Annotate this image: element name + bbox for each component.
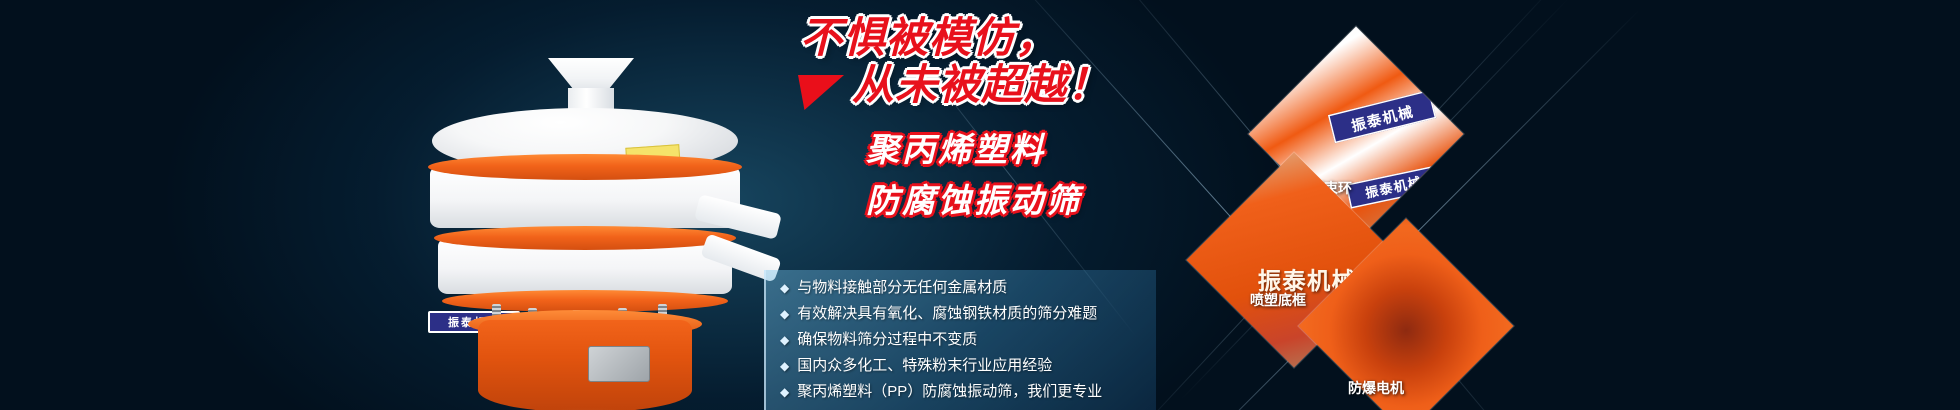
list-item-label: 国内众多化工、特殊粉末行业应用经验 — [797, 358, 1052, 373]
subtitle: 聚丙烯塑料 防腐蚀振动筛 — [866, 124, 1082, 226]
list-item: ◆ 国内众多化工、特殊粉末行业应用经验 — [780, 358, 1156, 373]
clamp-hoop-middle — [434, 226, 736, 250]
list-item-label: 有效解决具有氧化、腐蚀钢铁材质的筛分难题 — [797, 306, 1097, 321]
headline: 不惧被模仿， 从未被超越！ — [800, 14, 1160, 108]
clamp-hoop-lower — [442, 290, 728, 312]
bullet-diamond-icon: ◆ — [780, 308, 789, 320]
tile-brand-nameplate: 振泰机械 — [1328, 90, 1436, 143]
subtitle-line-1: 聚丙烯塑料 — [866, 124, 1082, 175]
bullet-diamond-icon: ◆ — [780, 386, 789, 398]
detail-tile-caption: 防爆电机 — [1348, 378, 1404, 398]
list-item-label: 聚丙烯塑料（PP）防腐蚀振动筛，我们更专业 — [797, 384, 1102, 399]
promo-banner: 振泰机械 振泰机械 不惧被模仿， 从未被超越！ 聚丙烯塑料 防腐蚀振动筛 ◆ 与… — [0, 0, 1960, 410]
feed-funnel — [548, 58, 634, 92]
motor-nameplate — [588, 346, 650, 382]
tile-brand-nameplate: 振泰机械 — [1346, 165, 1442, 208]
list-item: ◆ 与物料接触部分无任何金属材质 — [780, 280, 1156, 295]
list-item-label: 与物料接触部分无任何金属材质 — [797, 280, 1007, 295]
subtitle-line-2: 防腐蚀振动筛 — [866, 175, 1082, 226]
machine-base — [478, 320, 692, 410]
clamp-hoop-upper — [428, 154, 742, 180]
list-item-label: 确保物料筛分过程中不变质 — [797, 332, 977, 347]
bullet-diamond-icon: ◆ — [780, 360, 789, 372]
list-item: ◆ 聚丙烯塑料（PP）防腐蚀振动筛，我们更专业 — [780, 384, 1156, 399]
bullet-diamond-icon: ◆ — [780, 282, 789, 294]
list-item: ◆ 确保物料筛分过程中不变质 — [780, 332, 1156, 347]
headline-line-2: 从未被超越！ — [852, 61, 1160, 108]
bullet-diamond-icon: ◆ — [780, 334, 789, 346]
product-photo-vibrating-screen: 振泰机械 振泰机械 — [420, 58, 750, 358]
detail-tile-caption: 喷塑底框 — [1250, 290, 1306, 310]
feature-list: ◆ 与物料接触部分无任何金属材质 ◆ 有效解决具有氧化、腐蚀钢铁材质的筛分难题 … — [764, 270, 1156, 410]
list-item: ◆ 有效解决具有氧化、腐蚀钢铁材质的筛分难题 — [780, 306, 1156, 321]
headline-line-1: 不惧被模仿， — [800, 14, 1160, 61]
